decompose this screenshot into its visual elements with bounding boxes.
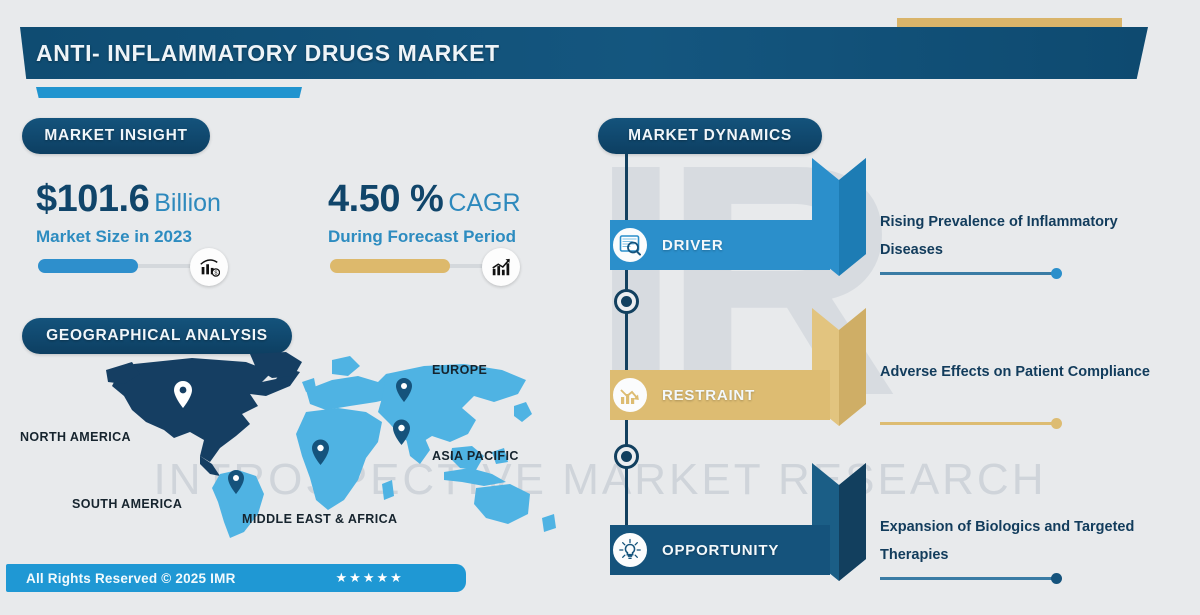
- stat-progress-fill: [330, 259, 450, 273]
- dynamics-description: Expansion of Biologics and Targeted Ther…: [880, 513, 1180, 570]
- dynamics-band: DRIVER: [610, 220, 830, 270]
- map-region-japan: [514, 402, 532, 422]
- stat-value: $101.6: [36, 178, 149, 220]
- dynamics-connector-line: [880, 422, 1058, 425]
- footer-copyright: All Rights Reserved © 2025 IMR: [26, 571, 236, 586]
- dynamics-label: RESTRAINT: [662, 387, 755, 404]
- dynamics-row-opportunity: OPPORTUNITY Expansion of Biologics and T…: [580, 495, 1200, 615]
- footer-bar: All Rights Reserved © 2025 IMR ★★★★★: [6, 564, 466, 592]
- map-region-madagascar: [382, 480, 394, 500]
- map-label-asia-pacific: ASIA PACIFIC: [432, 449, 519, 463]
- section-pill-market-dynamics: MARKET DYNAMICS: [598, 118, 822, 154]
- map-region-new-zealand: [542, 514, 556, 532]
- title-accent-bar: [36, 87, 302, 98]
- bar-chart-dollar-icon: $: [190, 248, 228, 286]
- svg-text:$: $: [214, 271, 217, 277]
- map-label-europe: EUROPE: [432, 363, 487, 377]
- dynamics-description: Rising Prevalence of Inflammatory Diseas…: [880, 208, 1180, 265]
- dynamics-label: OPPORTUNITY: [662, 542, 779, 559]
- stat-subtitle: During Forecast Period: [328, 227, 521, 247]
- growth-chart-icon: [482, 248, 520, 286]
- stat-value: 4.50 %: [328, 178, 443, 220]
- stat-headline: $101.6Billion: [36, 180, 221, 218]
- page-title: ANTI- INFLAMMATORY DRUGS MARKET: [36, 40, 500, 67]
- section-pill-geographical-analysis: GEOGRAPHICAL ANALYSIS: [22, 318, 292, 354]
- map-region-africa: [296, 408, 382, 510]
- footer-rating-stars: ★★★★★: [336, 570, 404, 586]
- stat-progress-fill: [38, 259, 138, 273]
- map-label-south-america: SOUTH AMERICA: [72, 497, 182, 511]
- market-dynamics-timeline: DRIVER Rising Prevalence of Inflammatory…: [580, 150, 1200, 600]
- dynamics-connector-line: [880, 577, 1058, 580]
- map-region-india: [406, 436, 430, 464]
- stat-cagr: 4.50 %CAGR During Forecast Period: [328, 180, 521, 247]
- stat-market-size: $101.6Billion Market Size in 2023 $: [36, 180, 221, 247]
- stat-unit: CAGR: [448, 189, 520, 217]
- title-bar: ANTI- INFLAMMATORY DRUGS MARKET: [20, 27, 1148, 79]
- stat-progress-track: [38, 264, 200, 268]
- gold-accent-tab: [897, 18, 1122, 27]
- section-pill-market-insight: MARKET INSIGHT: [22, 118, 210, 154]
- dynamics-row-driver: DRIVER Rising Prevalence of Inflammatory…: [580, 190, 1200, 310]
- map-label-middle-east-africa: MIDDLE EAST & AFRICA: [242, 512, 397, 526]
- dynamics-row-restraint: RESTRAINT Adverse Effects on Patient Com…: [580, 340, 1200, 460]
- stat-headline: 4.50 %CAGR: [328, 180, 521, 218]
- dynamics-connector-line: [880, 272, 1058, 275]
- dynamics-description: Adverse Effects on Patient Compliance: [880, 358, 1180, 386]
- section-pill-label: MARKET INSIGHT: [44, 127, 187, 145]
- dynamics-band: OPPORTUNITY: [610, 525, 830, 575]
- declining-chart-icon: [610, 375, 650, 415]
- section-pill-label: GEOGRAPHICAL ANALYSIS: [46, 327, 268, 345]
- lightbulb-icon: [610, 530, 650, 570]
- stat-progress-track: [330, 264, 492, 268]
- map-region-indonesia: [444, 468, 506, 486]
- dynamics-band: RESTRAINT: [610, 370, 830, 420]
- research-magnifier-icon: [610, 225, 650, 265]
- stat-subtitle: Market Size in 2023: [36, 227, 221, 247]
- stat-unit: Billion: [154, 189, 221, 217]
- dynamics-label: DRIVER: [662, 237, 723, 254]
- world-map: NORTH AMERICA SOUTH AMERICA MIDDLE EAST …: [14, 352, 570, 542]
- map-region-australia: [474, 484, 530, 524]
- map-region-scandinavia: [332, 356, 360, 376]
- section-pill-label: MARKET DYNAMICS: [628, 127, 792, 145]
- map-label-north-america: NORTH AMERICA: [20, 430, 131, 444]
